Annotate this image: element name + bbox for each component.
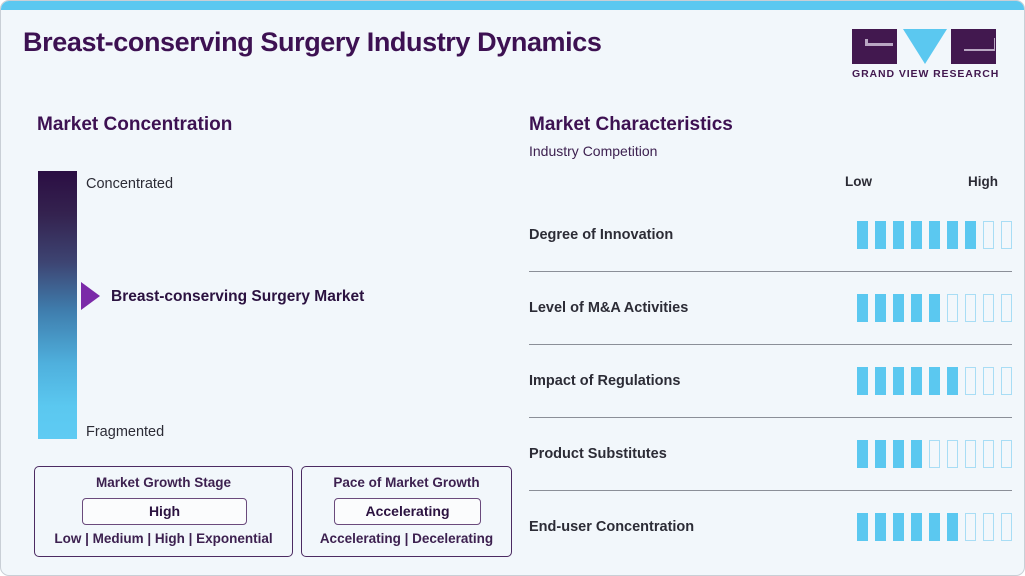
market-growth-stage-value: High [82, 498, 247, 525]
characteristic-label: Level of M&A Activities [529, 300, 688, 316]
market-growth-stage-title: Market Growth Stage [35, 475, 292, 490]
market-characteristics-panel: Market Characteristics Industry Competit… [513, 86, 1025, 576]
rating-bar-empty [965, 367, 976, 395]
market-position-label: Breast-conserving Surgery Market [111, 288, 364, 306]
characteristic-label: End-user Concentration [529, 519, 694, 535]
characteristic-label: Product Substitutes [529, 446, 667, 462]
rating-bars [857, 513, 1012, 541]
characteristic-label: Degree of Innovation [529, 227, 673, 243]
rating-bar-filled [965, 221, 976, 249]
rating-bar-filled [947, 367, 958, 395]
rating-bar-filled [929, 367, 940, 395]
market-characteristics-subheading: Industry Competition [529, 143, 657, 159]
rating-bars [857, 294, 1012, 322]
header: Breast-conserving Surgery Industry Dynam… [1, 10, 1025, 86]
rating-scale-high-label: High [968, 174, 998, 189]
rating-bar-empty [1001, 221, 1012, 249]
rating-bar-empty [947, 440, 958, 468]
rating-bar-empty [1001, 513, 1012, 541]
scale-bottom-label: Fragmented [86, 424, 164, 440]
rating-scale-axis: Low High [845, 174, 998, 189]
rating-bar-empty [1001, 367, 1012, 395]
rating-bar-filled [893, 513, 904, 541]
rating-bar-filled [857, 294, 868, 322]
rating-bar-filled [911, 440, 922, 468]
market-concentration-heading: Market Concentration [37, 114, 232, 136]
market-growth-stage-box: Market Growth Stage High Low | Medium | … [34, 466, 293, 557]
rating-bar-empty [1001, 440, 1012, 468]
characteristic-row: End-user Concentration [529, 490, 1012, 563]
characteristic-row: Product Substitutes [529, 417, 1012, 490]
rating-bar-empty [929, 440, 940, 468]
characteristic-row: Degree of Innovation [529, 199, 1012, 271]
characteristic-row: Impact of Regulations [529, 344, 1012, 417]
top-accent-bar [1, 1, 1025, 10]
rating-bar-filled [875, 367, 886, 395]
rating-bars [857, 367, 1012, 395]
rating-bar-filled [875, 440, 886, 468]
rating-bars [857, 440, 1012, 468]
rating-bar-filled [875, 294, 886, 322]
rating-bar-empty [965, 513, 976, 541]
rating-bar-empty [965, 294, 976, 322]
characteristics-rows: Degree of InnovationLevel of M&A Activit… [529, 199, 1012, 563]
logo-marks [852, 29, 996, 64]
rating-bar-empty [947, 294, 958, 322]
rating-bar-filled [893, 367, 904, 395]
infographic-card: Breast-conserving Surgery Industry Dynam… [0, 0, 1025, 576]
market-characteristics-heading: Market Characteristics [529, 114, 733, 136]
pace-of-market-growth-title: Pace of Market Growth [302, 475, 511, 490]
rating-bar-filled [893, 221, 904, 249]
rating-bar-empty [983, 294, 994, 322]
rating-bar-empty [983, 513, 994, 541]
rating-bar-empty [983, 367, 994, 395]
rating-bar-filled [857, 440, 868, 468]
market-concentration-panel: Market Concentration Concentrated Fragme… [1, 86, 513, 576]
pace-of-market-growth-value: Accelerating [334, 498, 481, 525]
rating-bar-empty [1001, 294, 1012, 322]
rating-bar-empty [983, 440, 994, 468]
blue-triangle-icon [903, 29, 947, 64]
rating-bar-filled [911, 221, 922, 249]
rating-bar-filled [857, 367, 868, 395]
rating-bar-filled [947, 221, 958, 249]
rating-bar-filled [875, 221, 886, 249]
logo-notch-tick [865, 39, 868, 46]
rating-scale-low-label: Low [845, 174, 872, 189]
rating-bar-filled [947, 513, 958, 541]
rating-bar-filled [911, 513, 922, 541]
market-growth-stage-options: Low | Medium | High | Exponential [35, 531, 292, 546]
characteristic-label: Impact of Regulations [529, 373, 680, 389]
pace-of-market-growth-options: Accelerating | Decelerating [302, 531, 511, 546]
purple-square-arrow-icon [951, 29, 996, 64]
rating-bar-empty [965, 440, 976, 468]
rating-bar-filled [893, 440, 904, 468]
purple-square-icon [852, 29, 897, 64]
rating-bar-filled [911, 367, 922, 395]
rating-bars [857, 221, 1012, 249]
brand-logo: GRAND VIEW RESEARCH [852, 29, 996, 84]
rating-bar-empty [983, 221, 994, 249]
market-position-arrow-icon [81, 282, 100, 310]
scale-top-label: Concentrated [86, 176, 173, 192]
brand-wordmark: GRAND VIEW RESEARCH [852, 68, 996, 80]
rating-bar-filled [929, 513, 940, 541]
rating-bar-filled [929, 294, 940, 322]
pace-of-market-growth-box: Pace of Market Growth Accelerating Accel… [301, 466, 512, 557]
rating-bar-filled [857, 513, 868, 541]
logo-arrow-glyph [955, 37, 995, 59]
rating-bar-filled [929, 221, 940, 249]
rating-bar-filled [857, 221, 868, 249]
concentration-gradient-scale [38, 171, 77, 439]
logo-notch-bar [865, 43, 893, 46]
rating-bar-filled [911, 294, 922, 322]
rating-bar-filled [893, 294, 904, 322]
page-title: Breast-conserving Surgery Industry Dynam… [23, 27, 602, 58]
rating-bar-filled [875, 513, 886, 541]
characteristic-row: Level of M&A Activities [529, 271, 1012, 344]
